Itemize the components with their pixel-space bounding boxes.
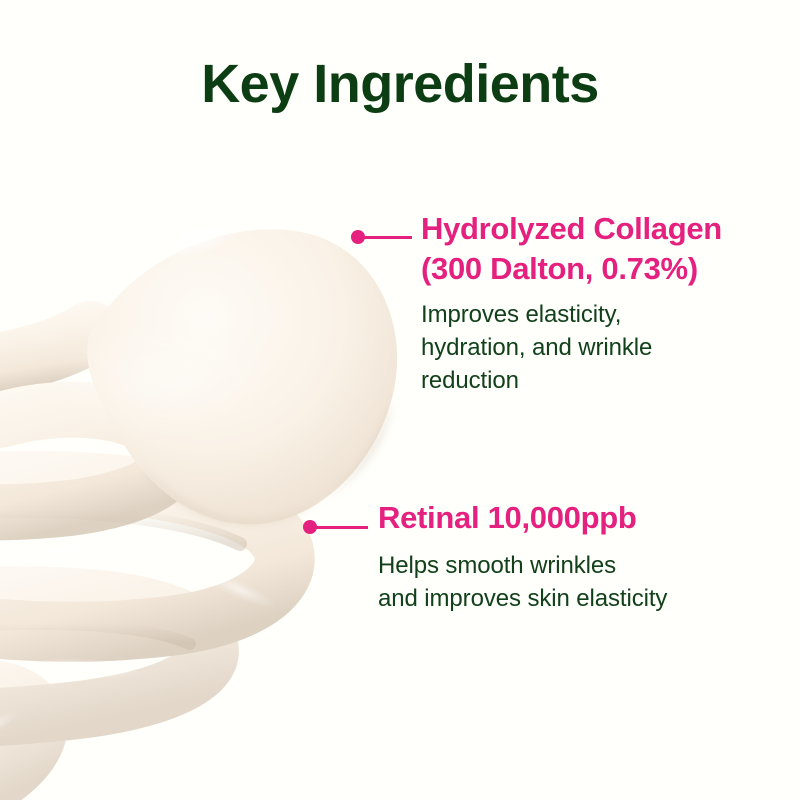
ingredients-infographic: Key Ingredients bbox=[0, 0, 800, 800]
ingredient-desc-line-2: and improves skin elasticity bbox=[378, 582, 667, 615]
ingredient-desc-line-1: Helps smooth wrinkles bbox=[378, 549, 667, 582]
cream-swirl-image bbox=[0, 120, 420, 800]
ingredient-desc-line-3: reduction bbox=[421, 364, 722, 397]
ingredient-name-line-2: (300 Dalton, 0.73%) bbox=[421, 249, 722, 289]
callout-dot-icon bbox=[351, 230, 365, 244]
ingredient-description-collagen: Improves elasticity, hydration, and wrin… bbox=[421, 298, 722, 397]
callout-dot-icon bbox=[303, 520, 317, 534]
callout-leader-line bbox=[364, 236, 412, 239]
ingredient-description-retinal: Helps smooth wrinkles and improves skin … bbox=[378, 549, 667, 615]
ingredient-name-collagen: Hydrolyzed Collagen (300 Dalton, 0.73%) bbox=[421, 209, 722, 289]
callout-body-collagen: Hydrolyzed Collagen (300 Dalton, 0.73%) … bbox=[421, 209, 722, 397]
ingredient-name-line-1: Hydrolyzed Collagen bbox=[421, 209, 722, 249]
callout-leader-line bbox=[316, 526, 368, 529]
callout-connector-retinal bbox=[303, 519, 368, 535]
callout-body-retinal: Retinal 10,000ppb Helps smooth wrinkles … bbox=[378, 498, 667, 615]
page-title: Key Ingredients bbox=[0, 52, 800, 116]
ingredient-name-retinal: Retinal 10,000ppb bbox=[378, 498, 667, 538]
callout-connector-collagen bbox=[351, 229, 412, 245]
ingredient-desc-line-2: hydration, and wrinkle bbox=[421, 331, 722, 364]
ingredient-desc-line-1: Improves elasticity, bbox=[421, 298, 722, 331]
ingredient-name-line-1: Retinal 10,000ppb bbox=[378, 498, 667, 538]
